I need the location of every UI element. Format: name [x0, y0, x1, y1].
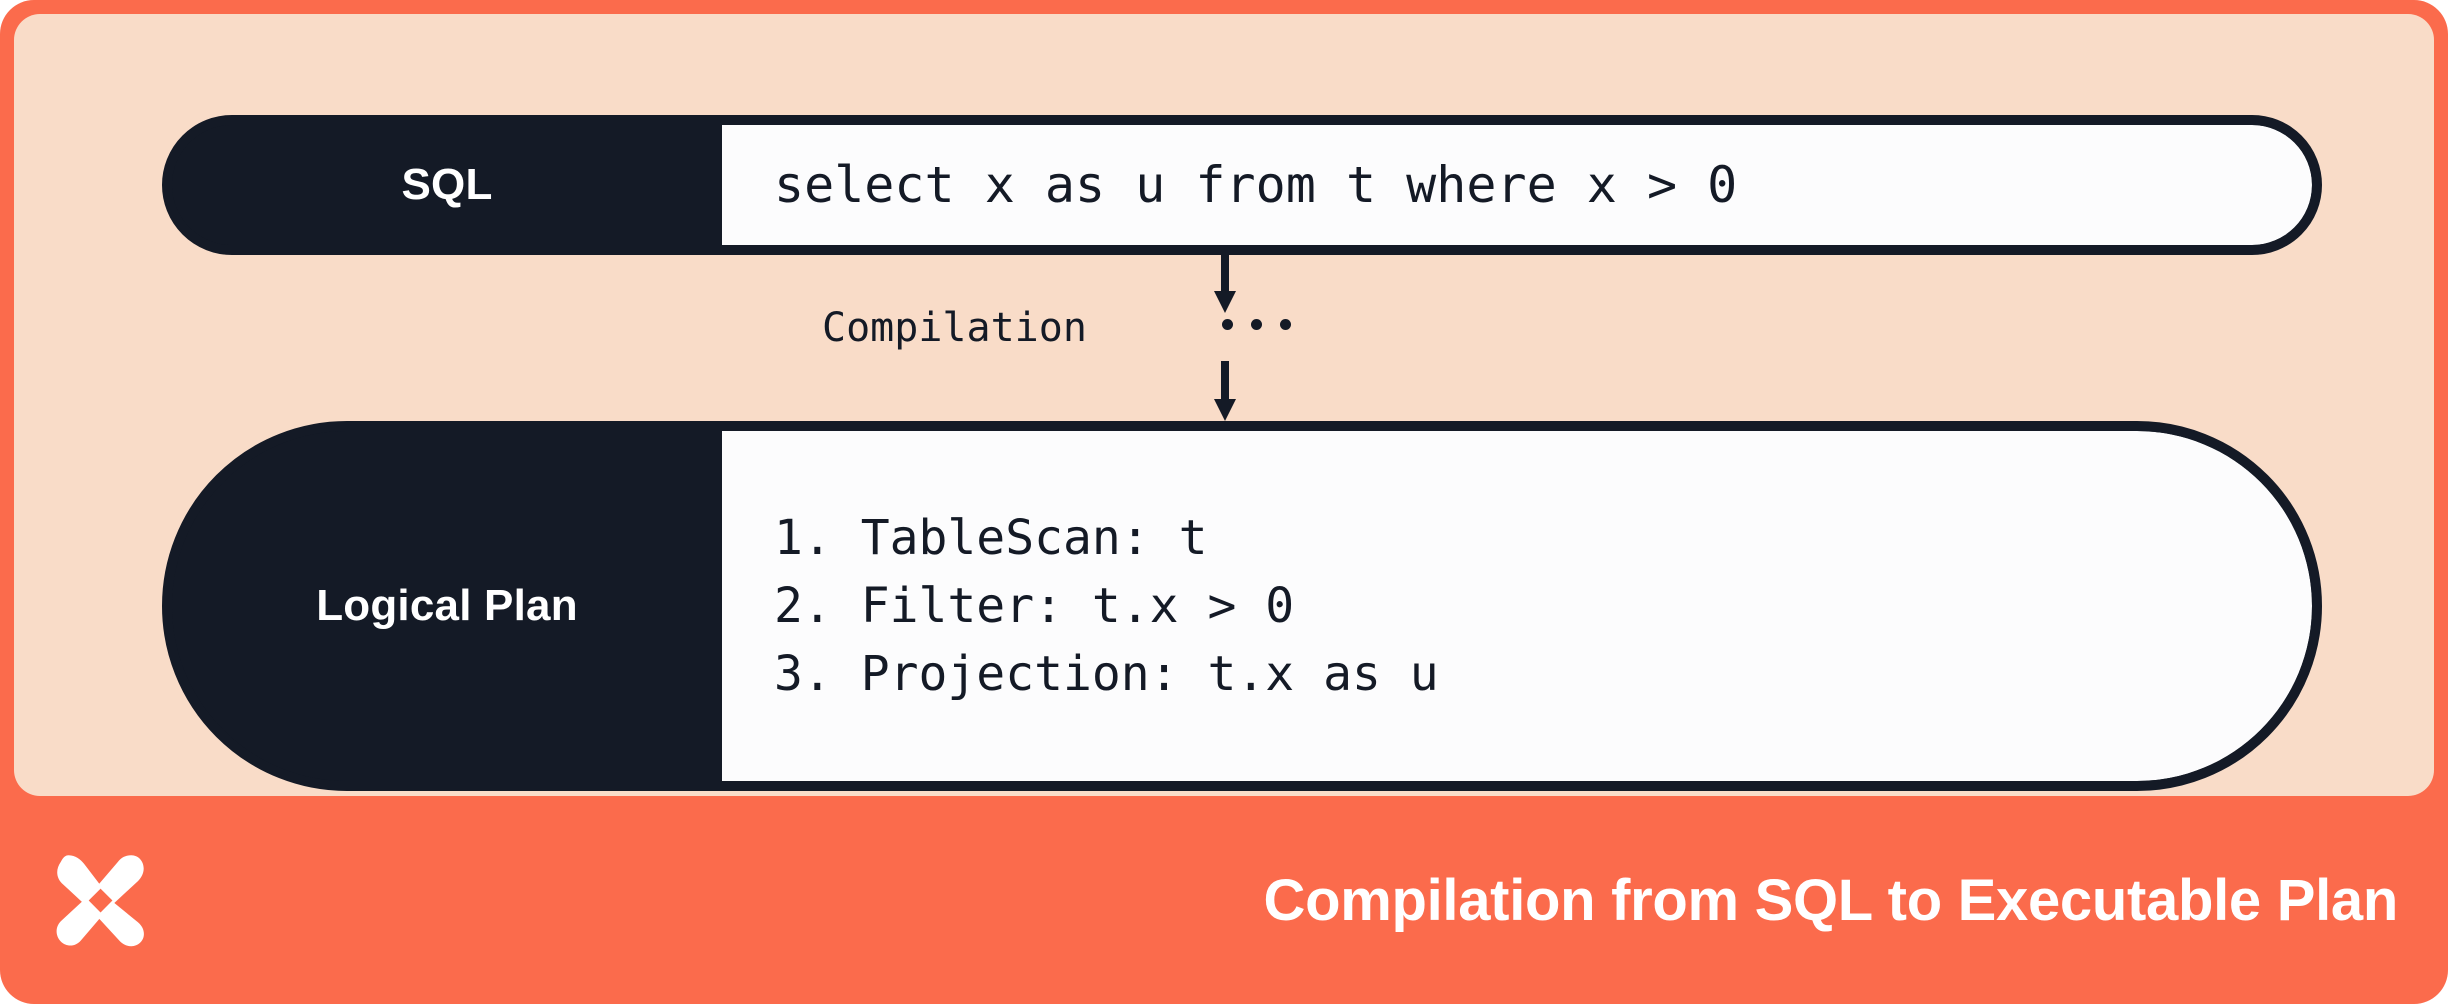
stage-content-logical-plan: 1. TableScan: t 2. Filter: t.x > 0 3. Pr… — [722, 431, 2312, 781]
stage-label-logical-plan: Logical Plan — [172, 431, 722, 781]
arrow-head — [1214, 291, 1236, 313]
stage-row-sql: SQL select x as u from t where x > 0 — [162, 115, 2322, 255]
ellipsis-icon — [1222, 319, 1291, 330]
ellipsis-dot — [1280, 319, 1291, 330]
caption-bar: Compilation from SQL to Executable Plan — [0, 796, 2448, 1004]
arrow-down-icon-bottom — [1214, 361, 1236, 421]
diagram-panel: SQL select x as u from t where x > 0 Com… — [14, 14, 2434, 796]
stage-label-sql: SQL — [172, 125, 722, 245]
stage-row-logical-plan: Logical Plan 1. TableScan: t 2. Filter: … — [162, 421, 2322, 791]
arrow-shaft — [1221, 361, 1229, 401]
x-mark-brand-logo — [44, 844, 156, 956]
arrow-down-icon-top — [1214, 255, 1236, 313]
compilation-figure: SQL select x as u from t where x > 0 Com… — [0, 0, 2448, 1004]
caption-title: Compilation from SQL to Executable Plan — [1263, 867, 2398, 934]
compilation-transition: Compilation — [162, 255, 2322, 421]
arrow-head — [1214, 399, 1236, 421]
ellipsis-dot — [1251, 319, 1262, 330]
ellipsis-dot — [1222, 319, 1233, 330]
stage-content-sql: select x as u from t where x > 0 — [722, 125, 2312, 245]
arrow-shaft — [1221, 255, 1229, 293]
sql-query-text: select x as u from t where x > 0 — [774, 160, 2252, 210]
plan-step-2: 2. Filter: t.x > 0 — [774, 572, 2252, 640]
transition-label: Compilation — [822, 305, 1087, 351]
plan-step-1: 1. TableScan: t — [774, 504, 2252, 572]
plan-step-3: 3. Projection: t.x as u — [774, 640, 2252, 708]
